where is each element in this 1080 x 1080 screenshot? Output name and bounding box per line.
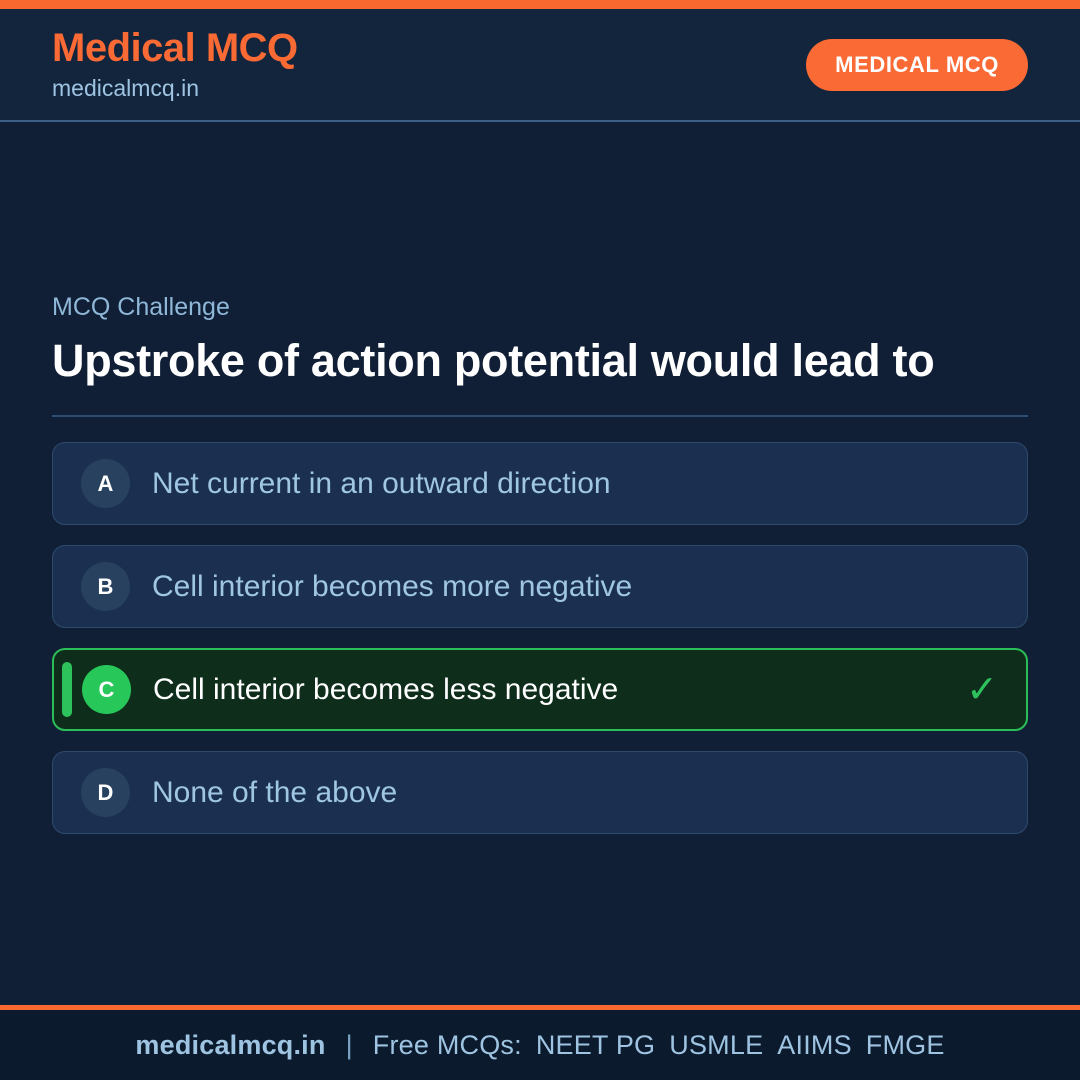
brand: Medical MCQ medicalmcq.in bbox=[52, 27, 298, 101]
option-c[interactable]: CCell interior becomes less negative✓ bbox=[52, 648, 1028, 731]
option-letter-badge: A bbox=[81, 459, 130, 508]
correct-check-icon: ✓ bbox=[962, 670, 1002, 710]
footer: medicalmcq.in|Free MCQs:NEET PGUSMLEAIIM… bbox=[0, 1010, 1080, 1080]
option-text: None of the above bbox=[152, 775, 1003, 811]
option-text: Net current in an outward direction bbox=[152, 466, 1003, 502]
option-d[interactable]: DNone of the above✓ bbox=[52, 751, 1028, 834]
question-eyebrow: MCQ Challenge bbox=[52, 294, 1028, 322]
footer-exam-fmge[interactable]: FMGE bbox=[866, 1030, 945, 1060]
option-text: Cell interior becomes less negative bbox=[153, 672, 962, 708]
footer-exams: NEET PGUSMLEAIIMSFMGE bbox=[522, 1030, 945, 1060]
footer-text: medicalmcq.in|Free MCQs:NEET PGUSMLEAIIM… bbox=[135, 1030, 944, 1061]
footer-exam-usmle[interactable]: USMLE bbox=[669, 1030, 763, 1060]
option-b[interactable]: BCell interior becomes more negative✓ bbox=[52, 545, 1028, 628]
option-a[interactable]: ANet current in an outward direction✓ bbox=[52, 442, 1028, 525]
main-content: MCQ Challenge Upstroke of action potenti… bbox=[0, 122, 1080, 1005]
header: Medical MCQ medicalmcq.in MEDICAL MCQ bbox=[0, 9, 1080, 122]
option-letter-badge: C bbox=[82, 665, 131, 714]
option-letter-badge: D bbox=[81, 768, 130, 817]
footer-exam-neet-pg[interactable]: NEET PG bbox=[536, 1030, 655, 1060]
footer-site: medicalmcq.in bbox=[135, 1030, 325, 1060]
question-block: MCQ Challenge Upstroke of action potenti… bbox=[52, 294, 1028, 387]
option-letter-badge: B bbox=[81, 562, 130, 611]
footer-exam-aiims[interactable]: AIIMS bbox=[777, 1030, 852, 1060]
question-divider bbox=[52, 415, 1028, 417]
correct-accent-bar bbox=[62, 662, 72, 717]
question-title: Upstroke of action potential would lead … bbox=[52, 335, 1028, 388]
footer-separator: | bbox=[346, 1030, 353, 1060]
brand-title: Medical MCQ bbox=[52, 27, 298, 69]
mcq-card: Medical MCQ medicalmcq.in MEDICAL MCQ MC… bbox=[0, 0, 1080, 1080]
header-badge: MEDICAL MCQ bbox=[806, 39, 1028, 91]
top-accent-bar bbox=[0, 0, 1080, 9]
brand-url: medicalmcq.in bbox=[52, 76, 298, 101]
options-list: ANet current in an outward direction✓BCe… bbox=[52, 442, 1028, 834]
footer-exams-label: Free MCQs: bbox=[373, 1030, 522, 1060]
option-text: Cell interior becomes more negative bbox=[152, 569, 1003, 605]
